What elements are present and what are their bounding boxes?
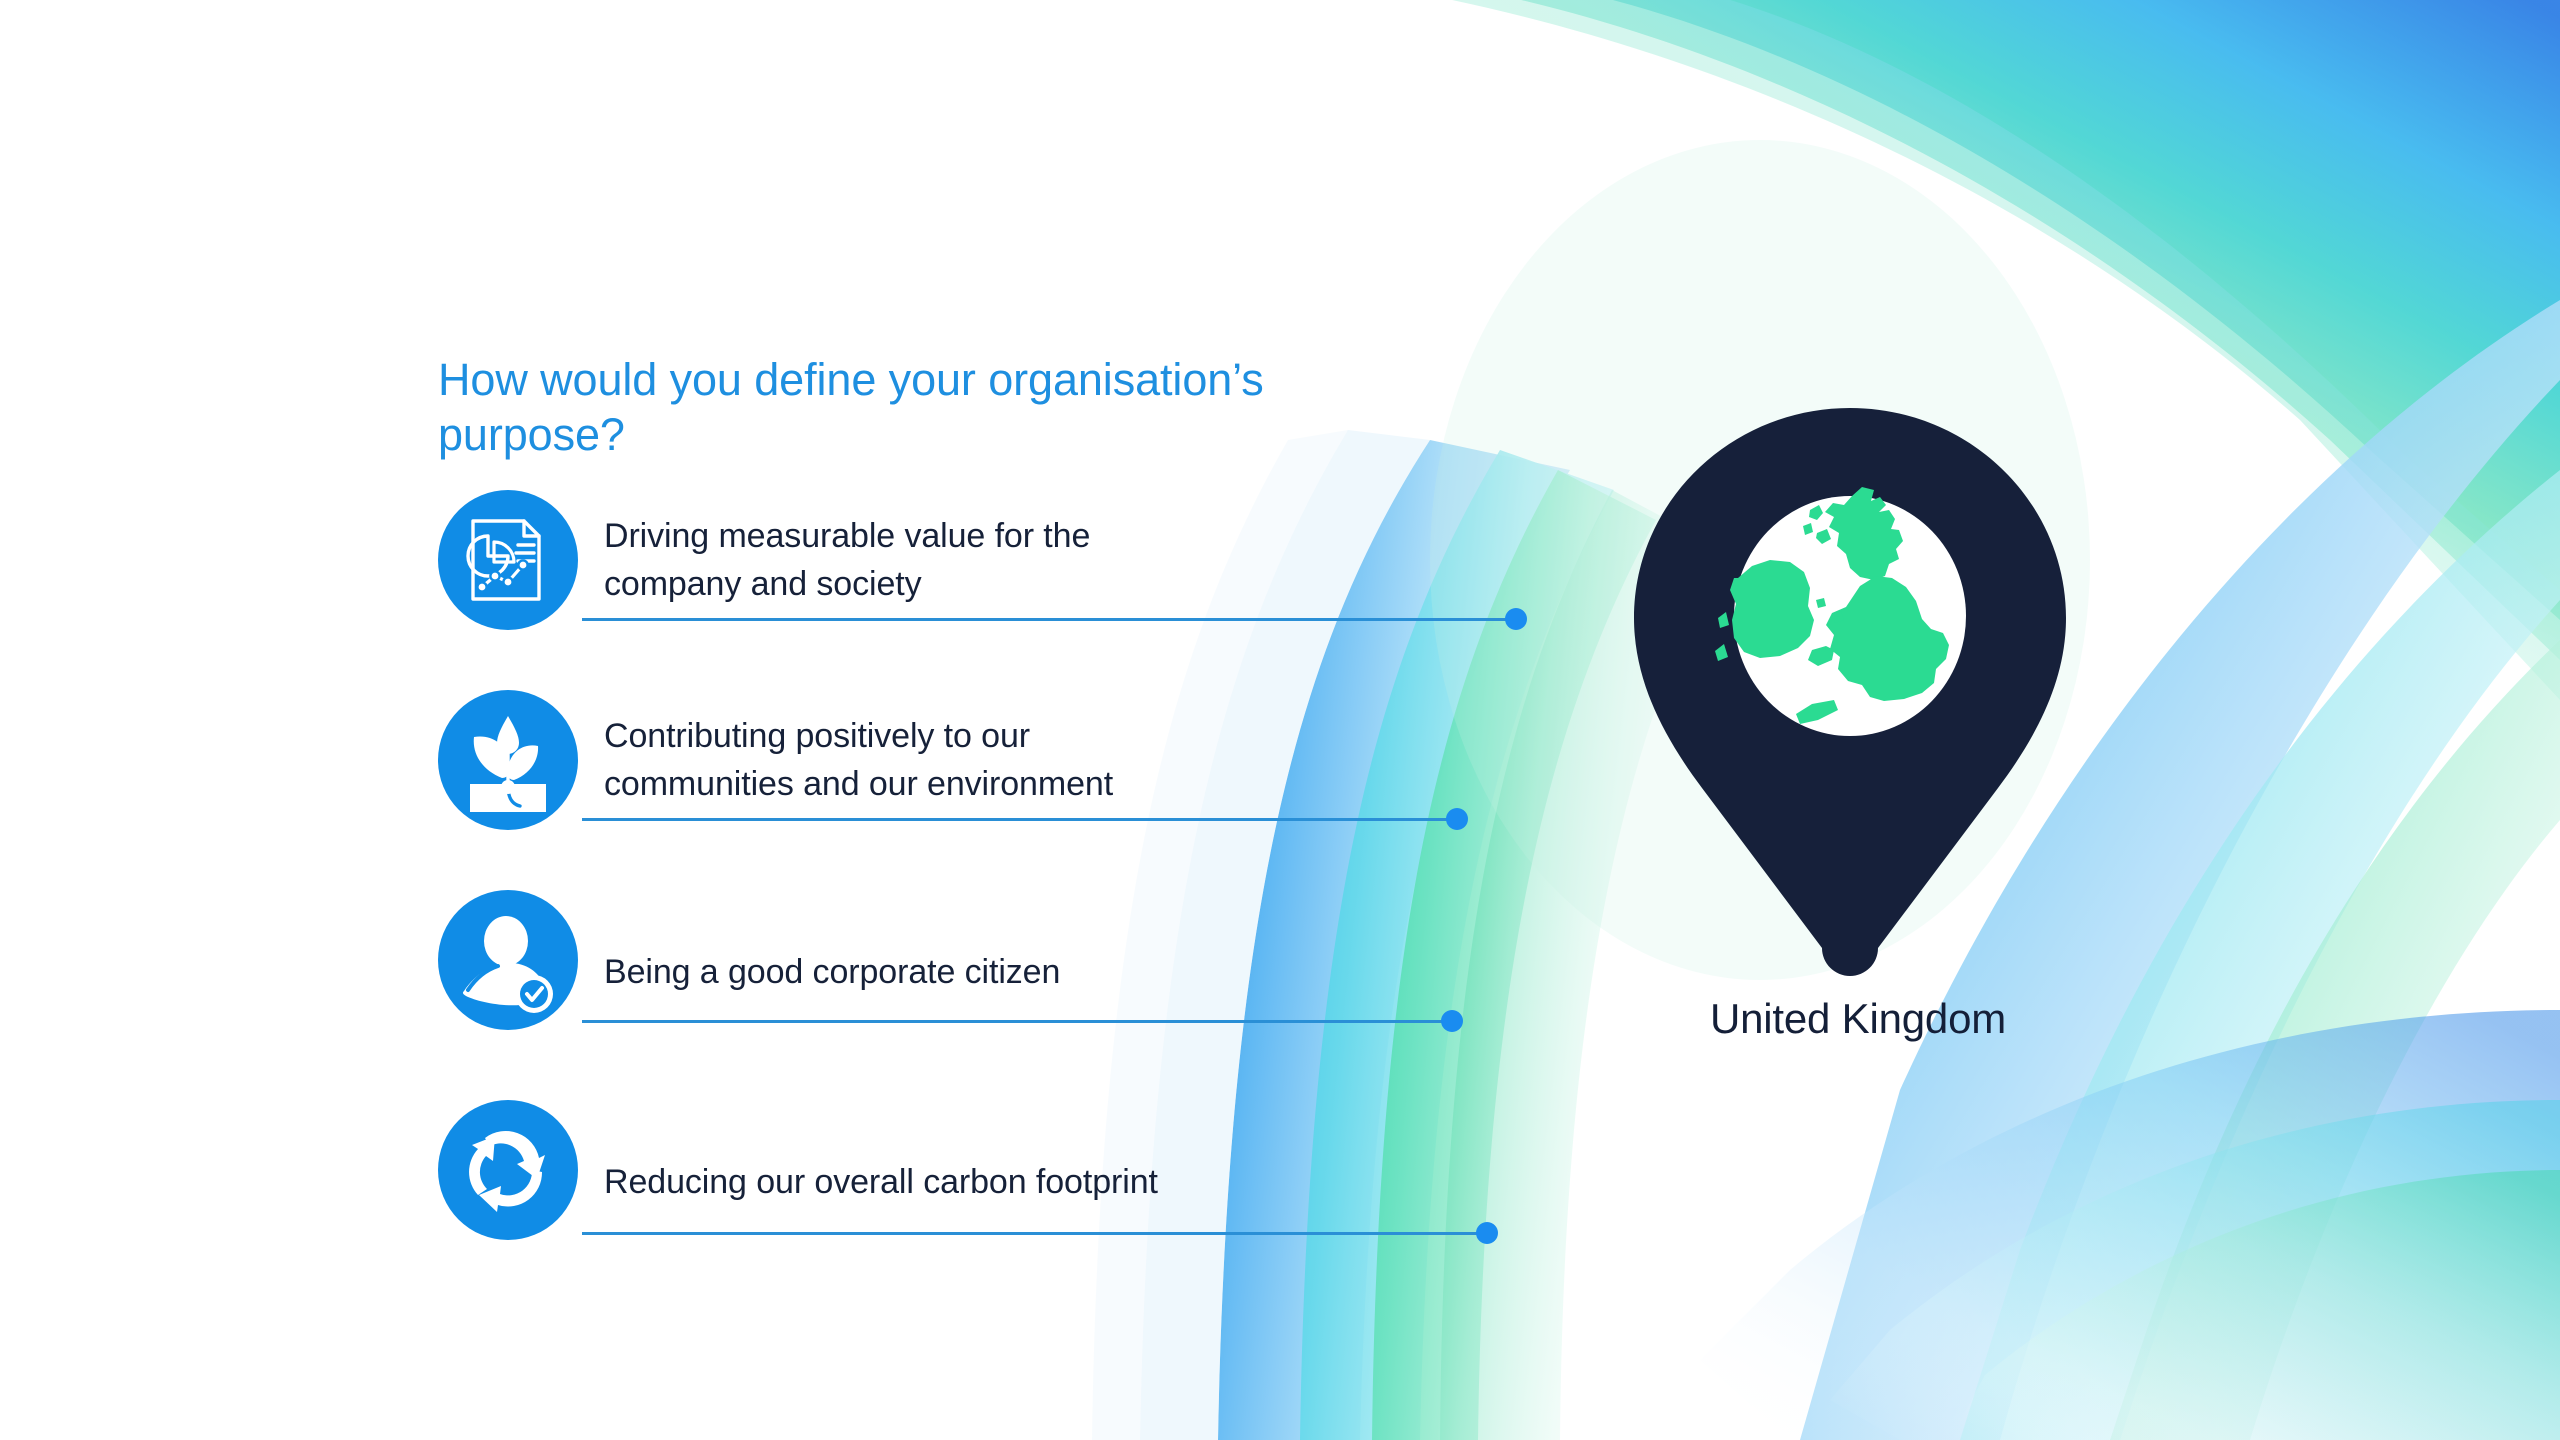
verified-person-icon [438,890,578,1030]
connector-line-1 [582,618,1517,621]
location-name: United Kingdom [1558,995,2158,1043]
recycle-cycle-icon [438,1100,578,1240]
connector-dot-2 [1446,808,1468,830]
purpose-icon-2 [438,690,578,830]
purpose-icon-4 [438,1100,578,1240]
purpose-label-4: Reducing our overall carbon footprint [604,1158,1224,1206]
purpose-icon-1 [438,490,578,630]
purpose-label-2: Contributing positively to our communiti… [604,712,1184,809]
document-chart-icon [438,490,578,630]
content-panel: How would you define your organisation’s… [0,0,1560,1440]
infographic-canvas: How would you define your organisation’s… [0,0,2560,1440]
connector-dot-1 [1505,608,1527,630]
page-title: How would you define your organisation’s… [438,352,1338,463]
location-pin[interactable] [1620,400,2080,1020]
connector-dot-3 [1441,1010,1463,1032]
connector-line-4 [582,1232,1487,1235]
purpose-icon-3 [438,890,578,1030]
purpose-label-1: Driving measurable value for the company… [604,512,1144,609]
sprout-icon [438,690,578,830]
connector-line-2 [582,818,1457,821]
purpose-label-3: Being a good corporate citizen [604,948,1184,996]
connector-dot-4 [1476,1222,1498,1244]
connector-line-3 [582,1020,1452,1023]
map-pin-icon [1620,400,2080,1020]
